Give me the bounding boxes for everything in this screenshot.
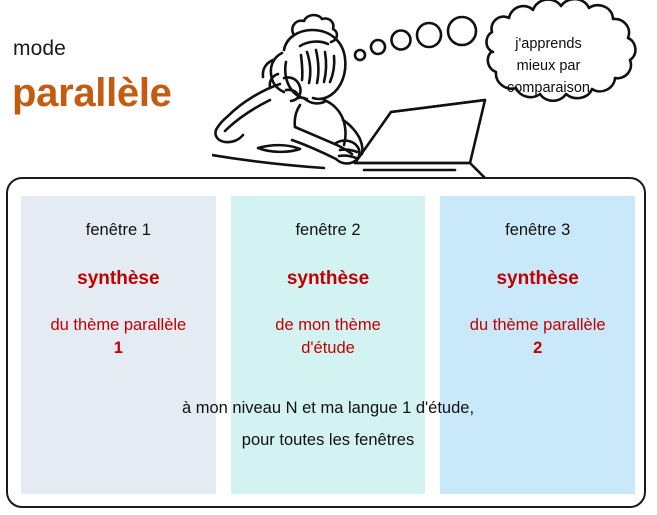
mode-label: mode bbox=[13, 38, 66, 59]
thought-bubble-text: j'apprends mieux par comparaison bbox=[466, 33, 631, 99]
thought-bubble-line-3: comparaison bbox=[466, 77, 631, 99]
windows-columns: fenêtre 1 synthèse du thème parallèle 1 … bbox=[21, 196, 635, 494]
window-column-2: fenêtre 2 synthèse de mon thème d'étude bbox=[231, 196, 426, 494]
mode-title: parallèle bbox=[12, 73, 172, 113]
header: mode parallèle bbox=[0, 0, 657, 178]
window-1-desc-line-1: du thème parallèle bbox=[25, 314, 212, 337]
window-2-synthese: synthèse bbox=[231, 268, 426, 291]
window-1-desc-line-2: 1 bbox=[25, 337, 212, 360]
window-2-desc-line-2: d'étude bbox=[235, 337, 422, 360]
window-1-description: du thème parallèle 1 bbox=[21, 314, 216, 361]
thought-bubble-line-1: j'apprends bbox=[466, 33, 631, 55]
thought-bubble-line-2: mieux par bbox=[466, 55, 631, 77]
window-2-description: de mon thème d'étude bbox=[231, 314, 426, 361]
window-1-label: fenêtre 1 bbox=[21, 221, 216, 241]
window-3-synthese: synthèse bbox=[440, 268, 635, 291]
window-3-description: du thème parallèle 2 bbox=[440, 314, 635, 361]
window-1-synthese: synthèse bbox=[21, 268, 216, 291]
window-3-desc-line-1: du thème parallèle bbox=[444, 314, 631, 337]
window-2-label: fenêtre 2 bbox=[231, 221, 426, 241]
window-3-desc-line-2: 2 bbox=[444, 337, 631, 360]
parallel-mode-panel: fenêtre 1 synthèse du thème parallèle 1 … bbox=[6, 177, 646, 508]
window-column-3: fenêtre 3 synthèse du thème parallèle 2 bbox=[440, 196, 635, 494]
window-column-1: fenêtre 1 synthèse du thème parallèle 1 bbox=[21, 196, 216, 494]
window-2-desc-line-1: de mon thème bbox=[235, 314, 422, 337]
window-3-label: fenêtre 3 bbox=[440, 221, 635, 241]
